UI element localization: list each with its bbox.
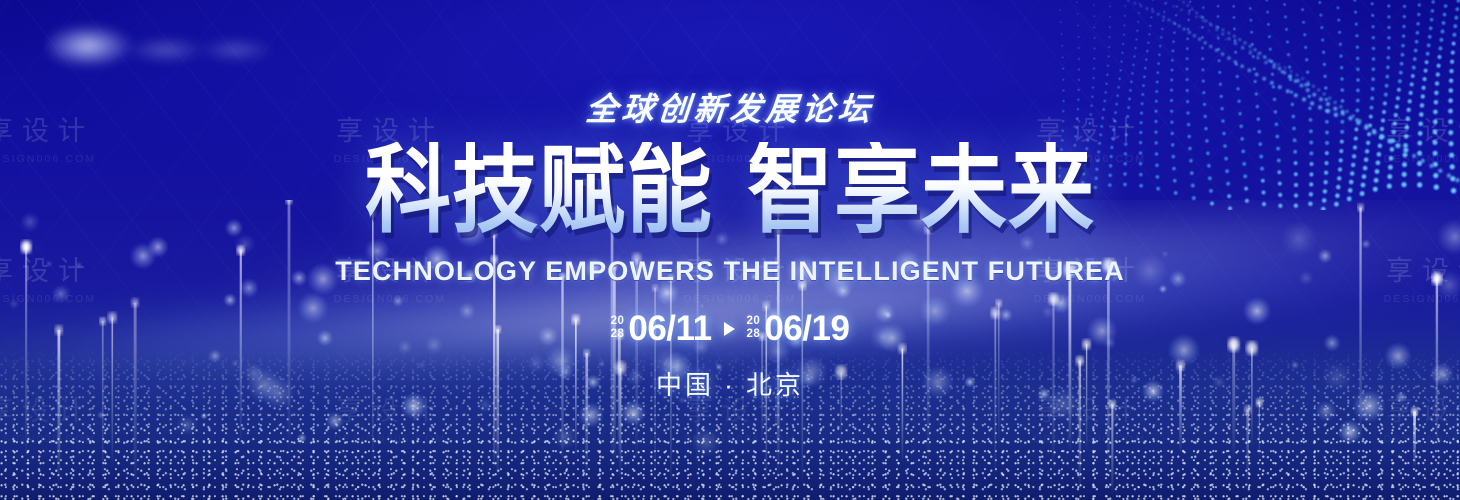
event-location: 中国 · 北京 <box>0 365 1460 402</box>
date-start-year-bottom: 28 <box>611 328 625 340</box>
page-title: 科技赋能智享未来 <box>0 142 1460 241</box>
event-date-range: 20 28 06/11 20 28 06/19 <box>0 309 1460 349</box>
play-arrow-icon <box>724 322 735 336</box>
date-end-year-bottom: 28 <box>747 328 761 340</box>
date-start-year: 20 28 <box>611 315 625 342</box>
date-start-monthday: 06/11 <box>628 309 711 349</box>
date-start: 20 28 06/11 <box>611 309 712 349</box>
headline-left: 科技赋能 <box>365 134 713 247</box>
date-end-year: 20 28 <box>747 315 761 342</box>
date-end-year-top: 20 <box>747 315 761 327</box>
headline-right: 智享未来 <box>747 134 1095 247</box>
date-end: 20 28 06/19 <box>747 309 850 349</box>
forum-subtitle: 全球创新发展论坛 <box>0 84 1460 130</box>
date-end-monthday: 06/19 <box>764 309 849 349</box>
date-start-year-top: 20 <box>611 315 625 327</box>
background-diagonal-texture <box>0 0 1460 500</box>
event-banner: 享设计DESIGN006.COM享设计DESIGN006.COM享设计DESIG… <box>0 0 1460 500</box>
english-subtitle: TECHNOLOGY EMPOWERS THE INTELLIGENT FUTU… <box>0 256 1460 287</box>
